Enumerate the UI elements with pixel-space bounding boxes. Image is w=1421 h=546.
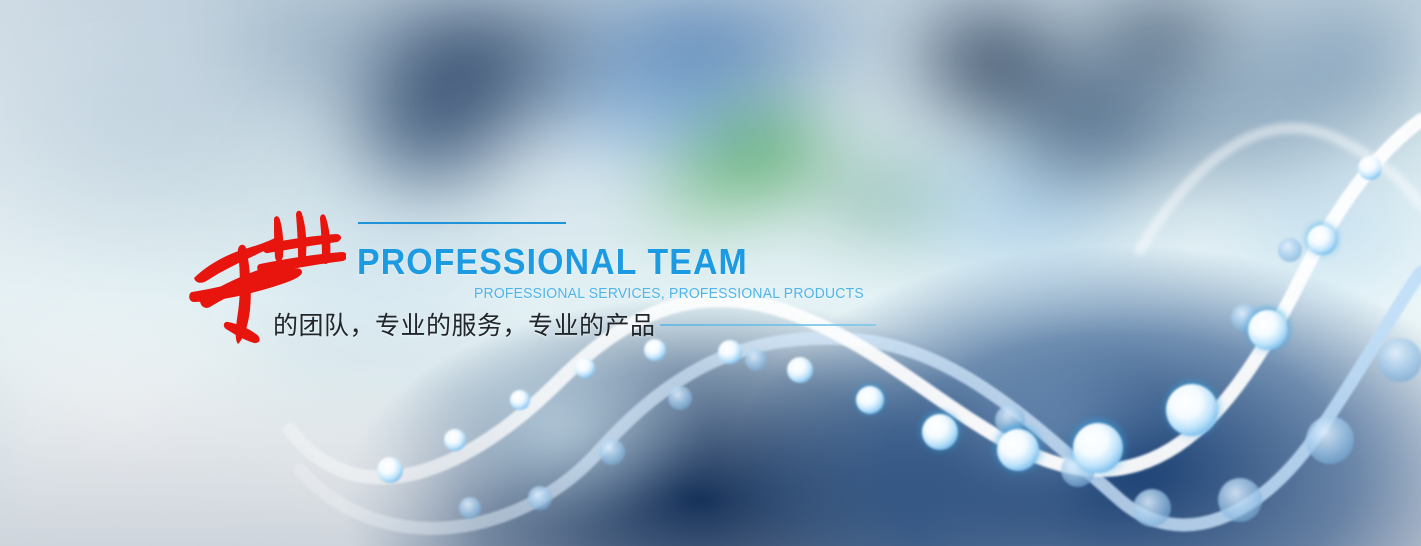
page-subtitle: PROFESSIONAL SERVICES, PROFESSIONAL PROD… xyxy=(474,286,864,302)
banner-text-block: PROFESSIONAL TEAM PROFESSIONAL SERVICES,… xyxy=(0,0,1421,546)
chinese-tagline: 的团队，专业的服务，专业的产品 xyxy=(273,306,656,342)
page-title: PROFESSIONAL TEAM xyxy=(357,241,748,283)
tagline-bottom-rule xyxy=(660,324,876,326)
professional-team-banner: PROFESSIONAL TEAM PROFESSIONAL SERVICES,… xyxy=(0,0,1421,546)
heading-top-rule xyxy=(358,222,566,224)
